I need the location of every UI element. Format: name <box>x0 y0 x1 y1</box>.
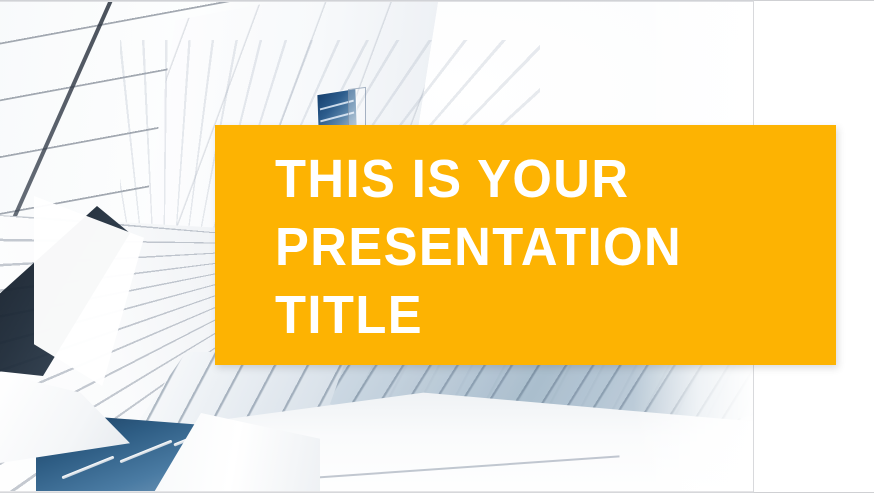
page-title[interactable]: THIS IS YOUR PRESENTATION TITLE <box>275 145 765 349</box>
presentation-slide: THIS IS YOUR PRESENTATION TITLE <box>0 0 874 493</box>
title-block[interactable]: THIS IS YOUR PRESENTATION TITLE <box>215 125 836 365</box>
slide-top-border <box>0 0 753 2</box>
